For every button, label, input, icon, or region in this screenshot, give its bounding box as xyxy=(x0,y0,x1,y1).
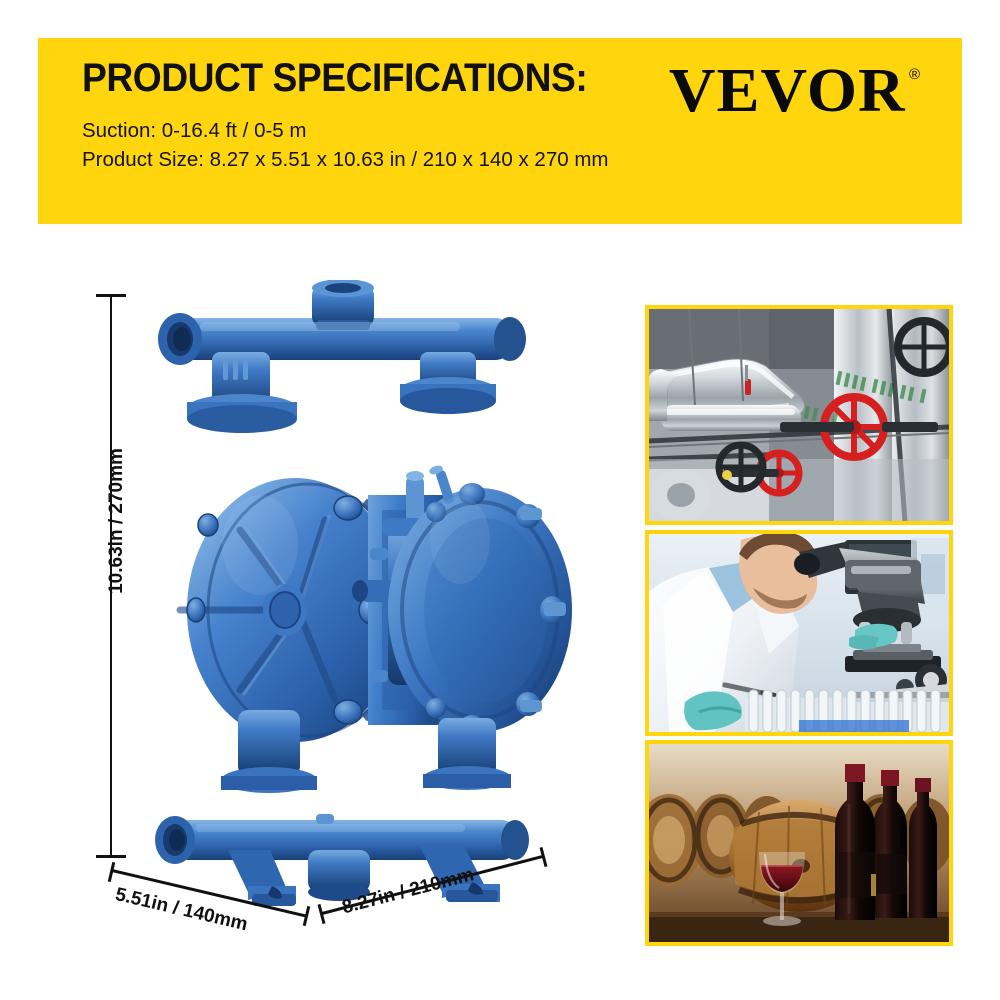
page-title: PRODUCT SPECIFICATIONS: xyxy=(82,56,587,101)
spec-line-product-size: Product Size: 8.27 x 5.51 x 10.63 in / 2… xyxy=(82,148,608,172)
height-dimension-cap-bottom xyxy=(96,855,126,858)
height-dimension-label: 10.63in / 270mm xyxy=(106,448,128,594)
photo-wine-cellar xyxy=(645,740,953,946)
spec-line-suction: Suction: 0-16.4 ft / 0-5 m xyxy=(82,119,306,143)
product-spec-page: PRODUCT SPECIFICATIONS: Suction: 0-16.4 … xyxy=(0,0,1000,1000)
height-dimension-cap-top xyxy=(96,294,126,297)
photo-industrial-piping xyxy=(645,305,953,525)
header-banner: PRODUCT SPECIFICATIONS: Suction: 0-16.4 … xyxy=(38,38,962,224)
brand-logo: VEVOR ® xyxy=(678,60,920,122)
brand-logo-text: VEVOR xyxy=(669,60,906,122)
photo-laboratory-microscope xyxy=(645,530,953,736)
registered-trademark-icon: ® xyxy=(909,66,920,83)
